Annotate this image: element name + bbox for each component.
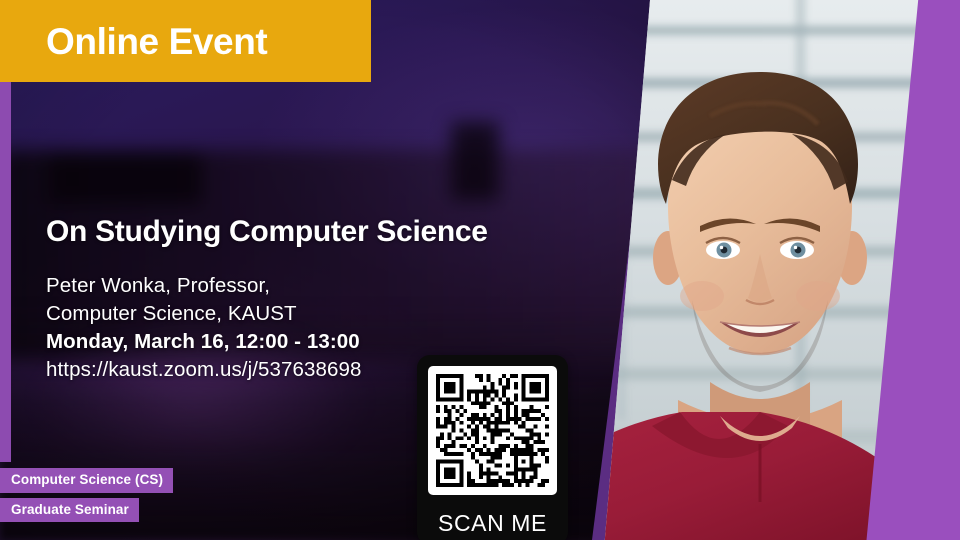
- badge-computer-science[interactable]: Computer Science (CS): [0, 468, 173, 493]
- talk-datetime: Monday, March 16, 12:00 - 13:00: [46, 328, 606, 356]
- left-accent-stripe: [0, 82, 11, 462]
- online-event-banner: Online Event: [0, 0, 371, 82]
- event-poster: Online Event On Studying Computer Scienc…: [0, 0, 960, 540]
- speaker-name: Peter Wonka, Professor,: [46, 272, 606, 300]
- qr-code-image: [436, 374, 549, 487]
- category-badges: Computer Science (CS) Graduate Seminar: [0, 468, 173, 522]
- talk-title: On Studying Computer Science: [46, 215, 606, 250]
- qr-code-block[interactable]: SCAN ME: [417, 355, 568, 540]
- online-event-banner-label: Online Event: [0, 23, 267, 60]
- qr-code-surface: [428, 366, 557, 495]
- badge-graduate-seminar[interactable]: Graduate Seminar: [0, 498, 139, 523]
- qr-code-caption: SCAN ME: [417, 510, 568, 537]
- speaker-affiliation: Computer Science, KAUST: [46, 300, 606, 328]
